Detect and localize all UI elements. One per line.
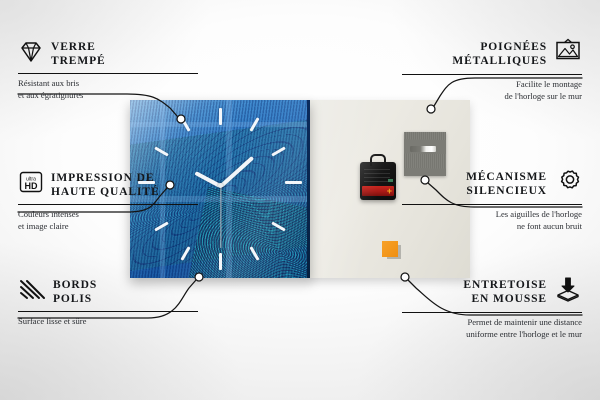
hour-marker — [219, 108, 222, 125]
callout-titles: POIGNÉES MÉTALLIQUES — [452, 40, 547, 68]
callout-title-line1: POIGNÉES — [480, 40, 547, 54]
callout-mecanisme-silencieux[interactable]: MÉCANISME SILENCIEUX Les aiguilles de l'… — [402, 168, 582, 232]
callout-title-line2: MÉTALLIQUES — [452, 54, 547, 68]
callout-titles: ENTRETOISE EN MOUSSE — [463, 278, 547, 306]
svg-text:HD: HD — [25, 181, 38, 191]
clock-center-pivot — [218, 183, 223, 188]
mechanism-label-chip — [388, 179, 393, 182]
infographic-canvas: + — [0, 0, 600, 400]
callout-header: ENTRETOISE EN MOUSSE — [402, 276, 582, 307]
callout-poignees-metalliques[interactable]: POIGNÉES MÉTALLIQUES Facilite le montage… — [402, 38, 582, 102]
hour-marker — [285, 181, 302, 184]
callout-title-line2: SILENCIEUX — [466, 184, 547, 198]
callout-verre-trempe[interactable]: VERRE TREMPÉ Résistant aux bris et aux é… — [18, 40, 198, 101]
callout-title-line1: IMPRESSION DE — [51, 171, 154, 185]
callout-title-line2: HAUTE QUALITÉ — [51, 185, 160, 199]
callout-header: POIGNÉES MÉTALLIQUES — [402, 38, 582, 69]
hour-marker — [219, 253, 222, 270]
face-right-edge — [307, 100, 310, 278]
callout-titles: MÉCANISME SILENCIEUX — [466, 170, 547, 198]
callout-sub-line1: Facilite le montage — [402, 79, 582, 91]
callout-sub-line1: Permet de maintenir une distance — [402, 317, 582, 329]
callout-impression-haute-qualite[interactable]: ultra HD IMPRESSION DE HAUTE QUALITÉ Cou… — [18, 170, 198, 232]
mechanism-texture — [364, 168, 390, 182]
callout-rule — [18, 311, 198, 312]
callout-title-line2: TREMPÉ — [51, 54, 106, 68]
battery-plus-icon: + — [387, 186, 392, 196]
callout-sub-line1: Couleurs intenses — [18, 209, 198, 221]
callout-sub-line2: et aux égratignures — [18, 90, 198, 102]
foam-spacer-icon — [554, 276, 582, 307]
bracket-slot — [410, 146, 436, 152]
callout-title-line2: POLIS — [53, 292, 92, 306]
callout-header: ultra HD IMPRESSION DE HAUTE QUALITÉ — [18, 170, 198, 199]
callout-title-line1: BORDS — [53, 278, 97, 292]
callout-titles: VERRE TREMPÉ — [51, 40, 106, 68]
callout-sub-line1: Les aiguilles de l'horloge — [402, 209, 582, 221]
callout-rule — [402, 312, 582, 313]
clock-second-hand — [220, 186, 221, 248]
ultra-hd-icon: ultra HD — [18, 170, 44, 199]
callout-titles: IMPRESSION DE HAUTE QUALITÉ — [51, 171, 160, 199]
callout-entretoise-en-mousse[interactable]: ENTRETOISE EN MOUSSE Permet de maintenir… — [402, 276, 582, 340]
callout-title-line1: VERRE — [51, 40, 96, 54]
callout-rule — [402, 204, 582, 205]
gear-icon — [554, 168, 582, 199]
foam-spacer-part — [382, 241, 398, 257]
callout-rule — [18, 73, 198, 74]
callout-sub-line2: de l'horloge sur le mur — [402, 91, 582, 103]
callout-title-line1: MÉCANISME — [466, 170, 547, 184]
diamond-icon — [18, 41, 44, 68]
callout-header: BORDS POLIS — [18, 278, 198, 306]
callout-titles: BORDS POLIS — [53, 278, 97, 306]
callout-header: VERRE TREMPÉ — [18, 40, 198, 68]
callout-title-line1: ENTRETOISE — [463, 278, 547, 292]
callout-sub-line2: ne font aucun bruit — [402, 221, 582, 233]
callout-sub-line2: uniforme entre l'horloge et le mur — [402, 329, 582, 341]
callout-sub-line2: et image claire — [18, 221, 198, 233]
callout-header: MÉCANISME SILENCIEUX — [402, 168, 582, 199]
callout-sub-line1: Surface lisse et sûre — [18, 316, 198, 328]
mechanism-hanging-loop — [370, 154, 386, 166]
callout-rule — [18, 204, 198, 205]
callout-bords-polis[interactable]: BORDS POLIS Surface lisse et sûre — [18, 278, 198, 328]
callout-title-line2: EN MOUSSE — [471, 292, 547, 306]
polished-edges-icon — [18, 279, 46, 306]
picture-frame-hanger-icon — [554, 38, 582, 69]
callout-sub-line1: Résistant aux bris — [18, 78, 198, 90]
clock-mechanism-part: + — [360, 162, 396, 200]
mechanism-battery: + — [362, 186, 394, 196]
callout-rule — [402, 74, 582, 75]
